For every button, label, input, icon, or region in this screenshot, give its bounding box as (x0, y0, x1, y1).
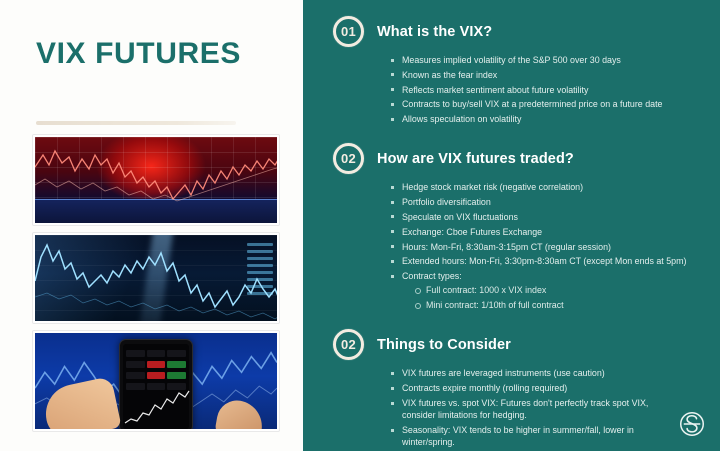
list-item-label: Contract types: (402, 271, 462, 281)
section-things-to-consider: 02 Things to Consider VIX futures are le… (333, 329, 702, 448)
red-line-series (35, 137, 279, 225)
section-number-badge: 02 (333, 143, 364, 174)
title-block: VIX FUTURES (36, 38, 241, 70)
image-blue-declining-chart (33, 233, 279, 323)
section-title: Things to Consider (377, 337, 511, 353)
list-item: Contracts to buy/sell VIX at a predeterm… (391, 98, 702, 110)
image-red-volatility-chart (33, 135, 279, 225)
smartphone-device (119, 339, 193, 431)
list-item: Seasonality: VIX tends to be higher in s… (391, 424, 661, 449)
quote-row (126, 350, 186, 357)
sub-list-item: Full contract: 1000 x VIX index (415, 284, 702, 296)
list-item: Allows speculation on volatility (391, 113, 702, 125)
section-number-badge: 02 (333, 329, 364, 360)
title-divider (36, 121, 236, 125)
list-item: Contract types: Full contract: 1000 x VI… (391, 270, 702, 311)
quote-row (126, 361, 186, 368)
list-item: Reflects market sentiment about future v… (391, 84, 702, 96)
phone-screen (123, 344, 189, 429)
list-item: Extended hours: Mon-Fri, 3:30pm-8:30am C… (391, 255, 702, 267)
left-panel: VIX FUTURES (0, 0, 303, 451)
list-item: VIX futures are leveraged instruments (u… (391, 367, 702, 379)
phone-mini-chart (123, 387, 191, 427)
slide-root: VIX FUTURES (0, 0, 720, 451)
section-header: 02 How are VIX futures traded? (333, 143, 702, 174)
list-item: Known as the fear index (391, 69, 702, 81)
brand-monogram-logo (677, 409, 707, 439)
quote-row (126, 372, 186, 379)
section-title: How are VIX futures traded? (377, 151, 574, 167)
section-title: What is the VIX? (377, 24, 492, 40)
list-item: Hours: Mon-Fri, 8:30am-3:15pm CT (regula… (391, 241, 702, 253)
list-item: Portfolio diversification (391, 196, 702, 208)
right-panel: 01 What is the VIX? Measures implied vol… (303, 0, 720, 451)
section-what-is-the-vix: 01 What is the VIX? Measures implied vol… (333, 16, 702, 125)
page-title: VIX FUTURES (36, 38, 241, 70)
blue-line-series (35, 235, 279, 323)
list-item: Speculate on VIX fluctuations (391, 211, 702, 223)
list-item: Measures implied volatility of the S&P 5… (391, 54, 702, 66)
bullet-list: VIX futures are leveraged instruments (u… (391, 367, 702, 448)
list-item: Hedge stock market risk (negative correl… (391, 181, 702, 193)
list-item: Contracts expire monthly (rolling requir… (391, 382, 702, 394)
section-header: 02 Things to Consider (333, 329, 702, 360)
sub-bullet-list: Full contract: 1000 x VIX index Mini con… (415, 284, 702, 311)
bullet-list: Hedge stock market risk (negative correl… (391, 181, 702, 311)
photo-stack (33, 135, 279, 431)
list-item: Exchange: Cboe Futures Exchange (391, 226, 702, 238)
list-item: VIX futures vs. spot VIX: Futures don't … (391, 397, 681, 422)
image-phone-trading-app (33, 331, 279, 431)
sub-list-item: Mini contract: 1/10th of full contract (415, 299, 702, 311)
section-how-are-vix-futures-traded: 02 How are VIX futures traded? Hedge sto… (333, 143, 702, 311)
section-number-badge: 01 (333, 16, 364, 47)
bullet-list: Measures implied volatility of the S&P 5… (391, 54, 702, 125)
section-header: 01 What is the VIX? (333, 16, 702, 47)
